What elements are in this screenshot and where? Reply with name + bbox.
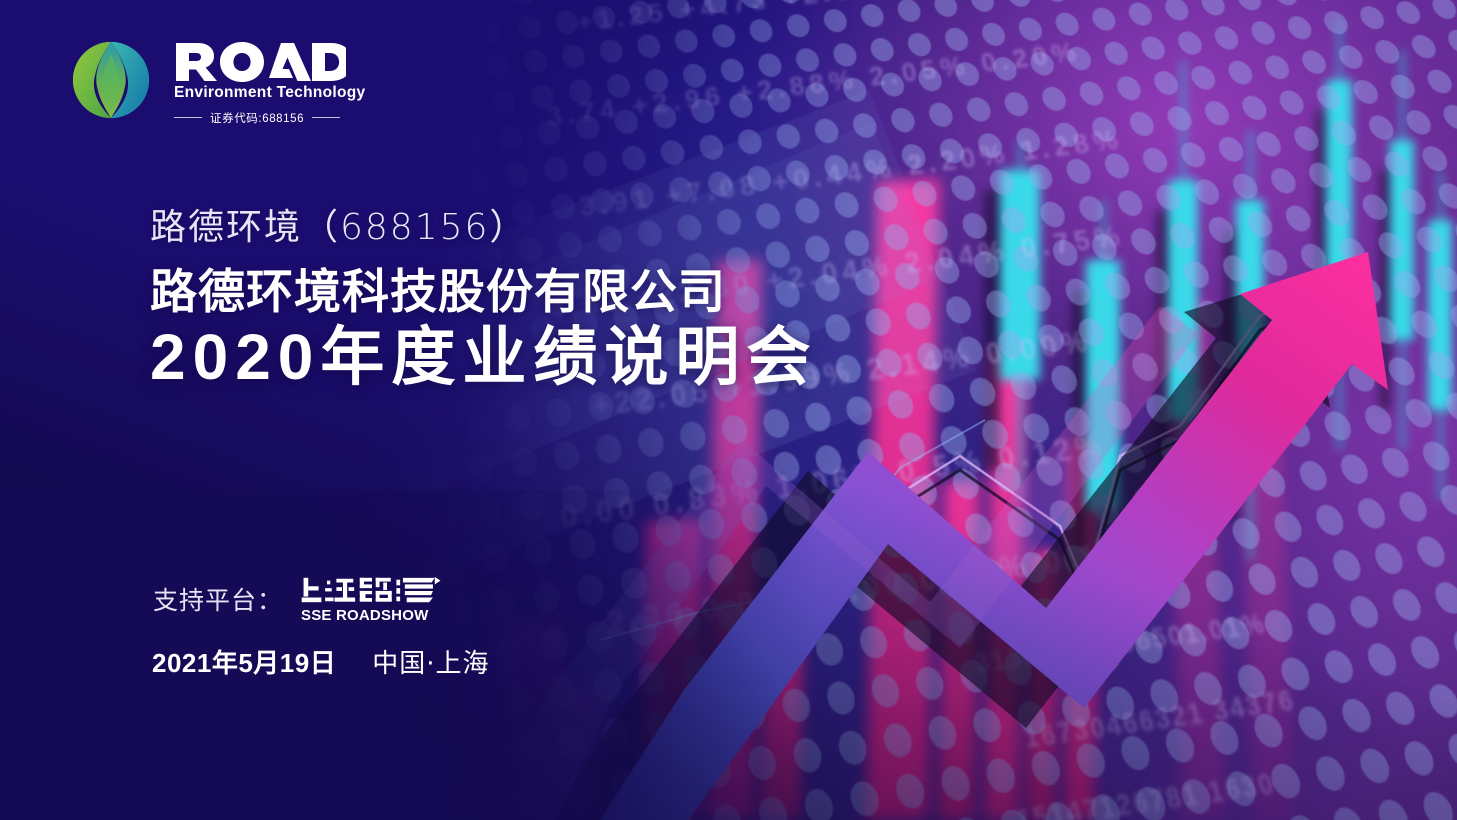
event-location: 中国·上海 [372, 643, 489, 680]
sse-roadshow-logo: SSE ROADSHOW [301, 575, 443, 623]
stock-name-line: 路德环境（688156） [150, 205, 817, 250]
presentation-slide: +1.25 +4.73 +2.84% 2.63% 3.74 +2.96 +2.8… [0, 0, 1457, 820]
company-name-line: 路德环境科技股份有限公司 [150, 264, 817, 320]
sse-chinese-wordmark [301, 575, 443, 605]
road-wordmark [174, 40, 346, 84]
event-title-line: 2020年度业绩说明会 [150, 322, 817, 394]
hero-text-block: 路德环境（688156） 路德环境科技股份有限公司 2020年度业绩说明会 [150, 205, 817, 394]
logo-text-block: Environment Technology 证券代码:688156 [174, 31, 365, 126]
sse-english-wordmark: SSE ROADSHOW [301, 608, 443, 623]
rule-right [312, 117, 340, 118]
date-location-row: 2021年5月19日 中国·上海 [152, 643, 490, 680]
company-logo: Environment Technology 证券代码:688156 [62, 31, 365, 129]
stock-code-label: 证券代码:688156 [210, 110, 304, 126]
support-platform-row: 支持平台： [153, 575, 443, 623]
stock-code-row: 证券代码:688156 [174, 110, 365, 126]
road-leaf-circle-mark [62, 31, 160, 129]
logo-tagline: Environment Technology [174, 85, 365, 101]
event-date: 2021年5月19日 [152, 643, 336, 680]
support-platform-label: 支持平台： [153, 581, 283, 617]
rule-left [174, 117, 202, 118]
slide-content: Environment Technology 证券代码:688156 路德环境（… [0, 0, 1457, 820]
